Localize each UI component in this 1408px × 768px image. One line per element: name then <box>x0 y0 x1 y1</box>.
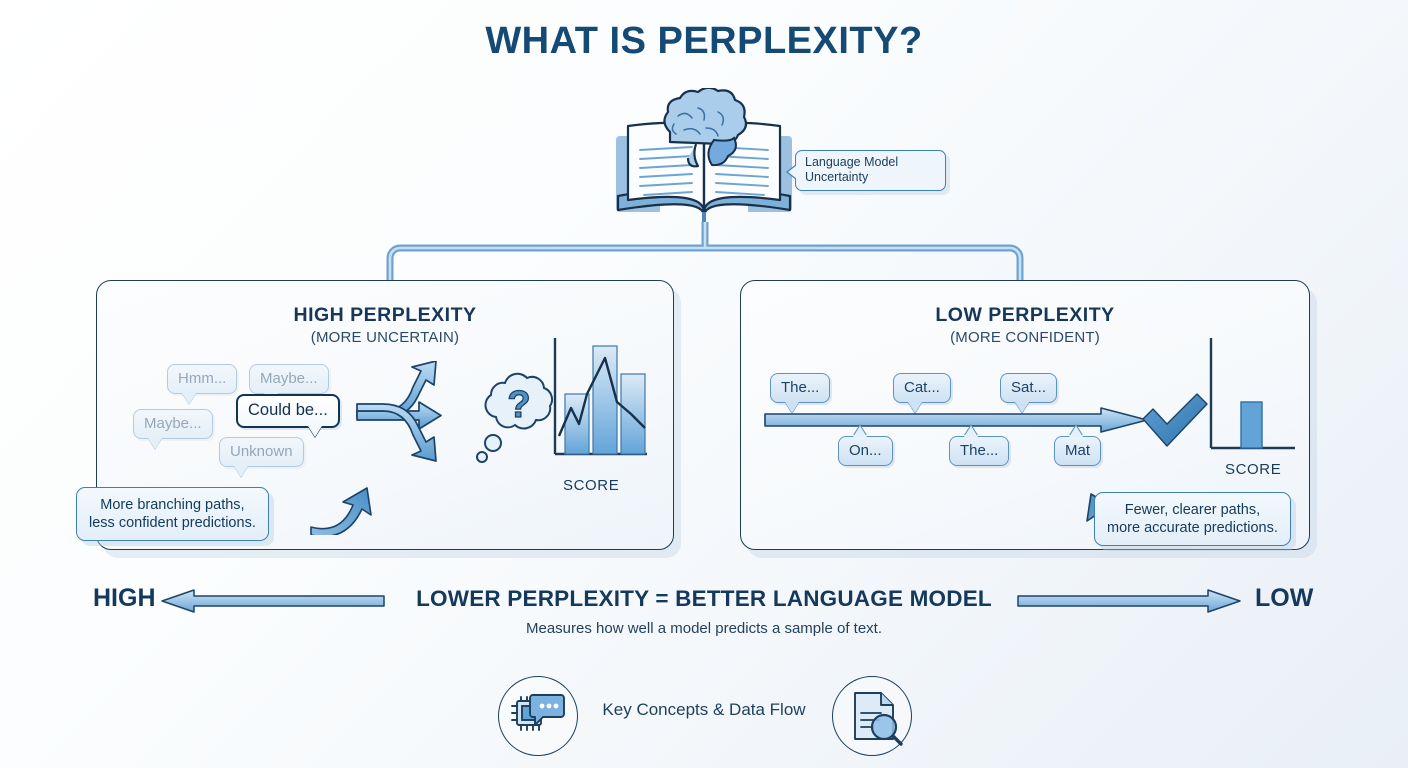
bubble-on: On... <box>838 436 893 466</box>
high-perplexity-score-chart <box>547 336 653 481</box>
callout-line-1: Fewer, clearer paths, <box>1107 501 1278 519</box>
low-score-label: SCORE <box>1225 461 1281 478</box>
page-title: WHAT IS PERPLEXITY? <box>0 20 1408 63</box>
checkmark-icon <box>1139 391 1209 458</box>
bubble-label: Maybe... <box>144 415 202 432</box>
open-book-with-brain-icon <box>604 88 804 238</box>
bubble-cat: Cat... <box>893 373 951 403</box>
bubble-tail-icon <box>308 426 322 437</box>
bubble-hmm: Hmm... <box>167 364 237 394</box>
svg-text:?: ? <box>507 384 530 426</box>
scale-left-arrow-icon <box>160 588 386 619</box>
panel-high-title: HIGH PERPLEXITY <box>97 304 673 327</box>
low-perplexity-score-chart <box>1203 336 1303 471</box>
bubble-tail-icon <box>853 426 867 437</box>
bubble-tail-icon <box>182 393 196 404</box>
callout-line-1: More branching paths, <box>89 496 256 514</box>
bubble-label: Cat... <box>904 379 940 396</box>
callout-line-1: Language Model <box>805 155 938 170</box>
bubble-tail-icon <box>234 466 248 477</box>
bubble-label: Maybe... <box>260 370 318 387</box>
footer-label: Key Concepts & Data Flow <box>0 700 1408 720</box>
callout-line-2: more accurate predictions. <box>1107 519 1278 537</box>
bubble-the-1: The... <box>770 373 830 403</box>
bubble-label: Mat <box>1065 442 1090 459</box>
panel-low-title: LOW PERPLEXITY <box>741 304 1309 327</box>
callout-tail-icon <box>788 165 797 179</box>
bubble-label: Could be... <box>248 401 328 419</box>
bubble-label: The... <box>781 379 819 396</box>
infographic-canvas: WHAT IS PERPLEXITY? <box>0 0 1408 768</box>
scale-low-label: LOW <box>1255 584 1313 613</box>
bubble-tail-icon <box>148 438 162 449</box>
perplexity-scale-row: HIGH LOWER PERPLEXITY = BETTER LANGUAGE … <box>0 580 1408 622</box>
scale-subtitle: Measures how well a model predicts a sam… <box>0 620 1408 637</box>
document-with-magnifier-icon <box>832 676 912 756</box>
scale-right-arrow-icon <box>1016 588 1242 619</box>
bubble-label: On... <box>849 442 882 459</box>
bubble-maybe-top: Maybe... <box>249 364 329 394</box>
language-model-uncertainty-callout: Language Model Uncertainty <box>795 150 946 191</box>
bubble-label: The... <box>960 442 998 459</box>
sequence-timeline-arrow-icon <box>763 406 1151 439</box>
bubble-sat: Sat... <box>1000 373 1057 403</box>
bubble-mat: Mat <box>1054 436 1101 466</box>
callout-pointer-arrow-icon <box>309 473 389 540</box>
bubble-the-2: The... <box>949 436 1009 466</box>
callout-line-2: less confident predictions. <box>89 514 256 532</box>
callout-high-perplexity: More branching paths, less confident pre… <box>76 487 269 541</box>
bubble-maybe-left: Maybe... <box>133 409 213 439</box>
three-way-branching-arrows-icon <box>355 361 463 478</box>
bubble-label: Hmm... <box>178 370 226 387</box>
branch-connector <box>370 222 1040 284</box>
bubble-label: Unknown <box>230 443 293 460</box>
bubble-unknown: Unknown <box>219 437 304 467</box>
bubble-could-be: Could be... <box>236 394 340 428</box>
callout-low-perplexity: Fewer, clearer paths, more accurate pred… <box>1094 492 1291 546</box>
bubble-label: Sat... <box>1011 379 1046 396</box>
callout-line-2: Uncertainty <box>805 170 938 185</box>
bubble-tail-icon <box>964 426 978 437</box>
bubble-tail-icon <box>1069 426 1083 437</box>
high-score-label: SCORE <box>563 477 619 494</box>
